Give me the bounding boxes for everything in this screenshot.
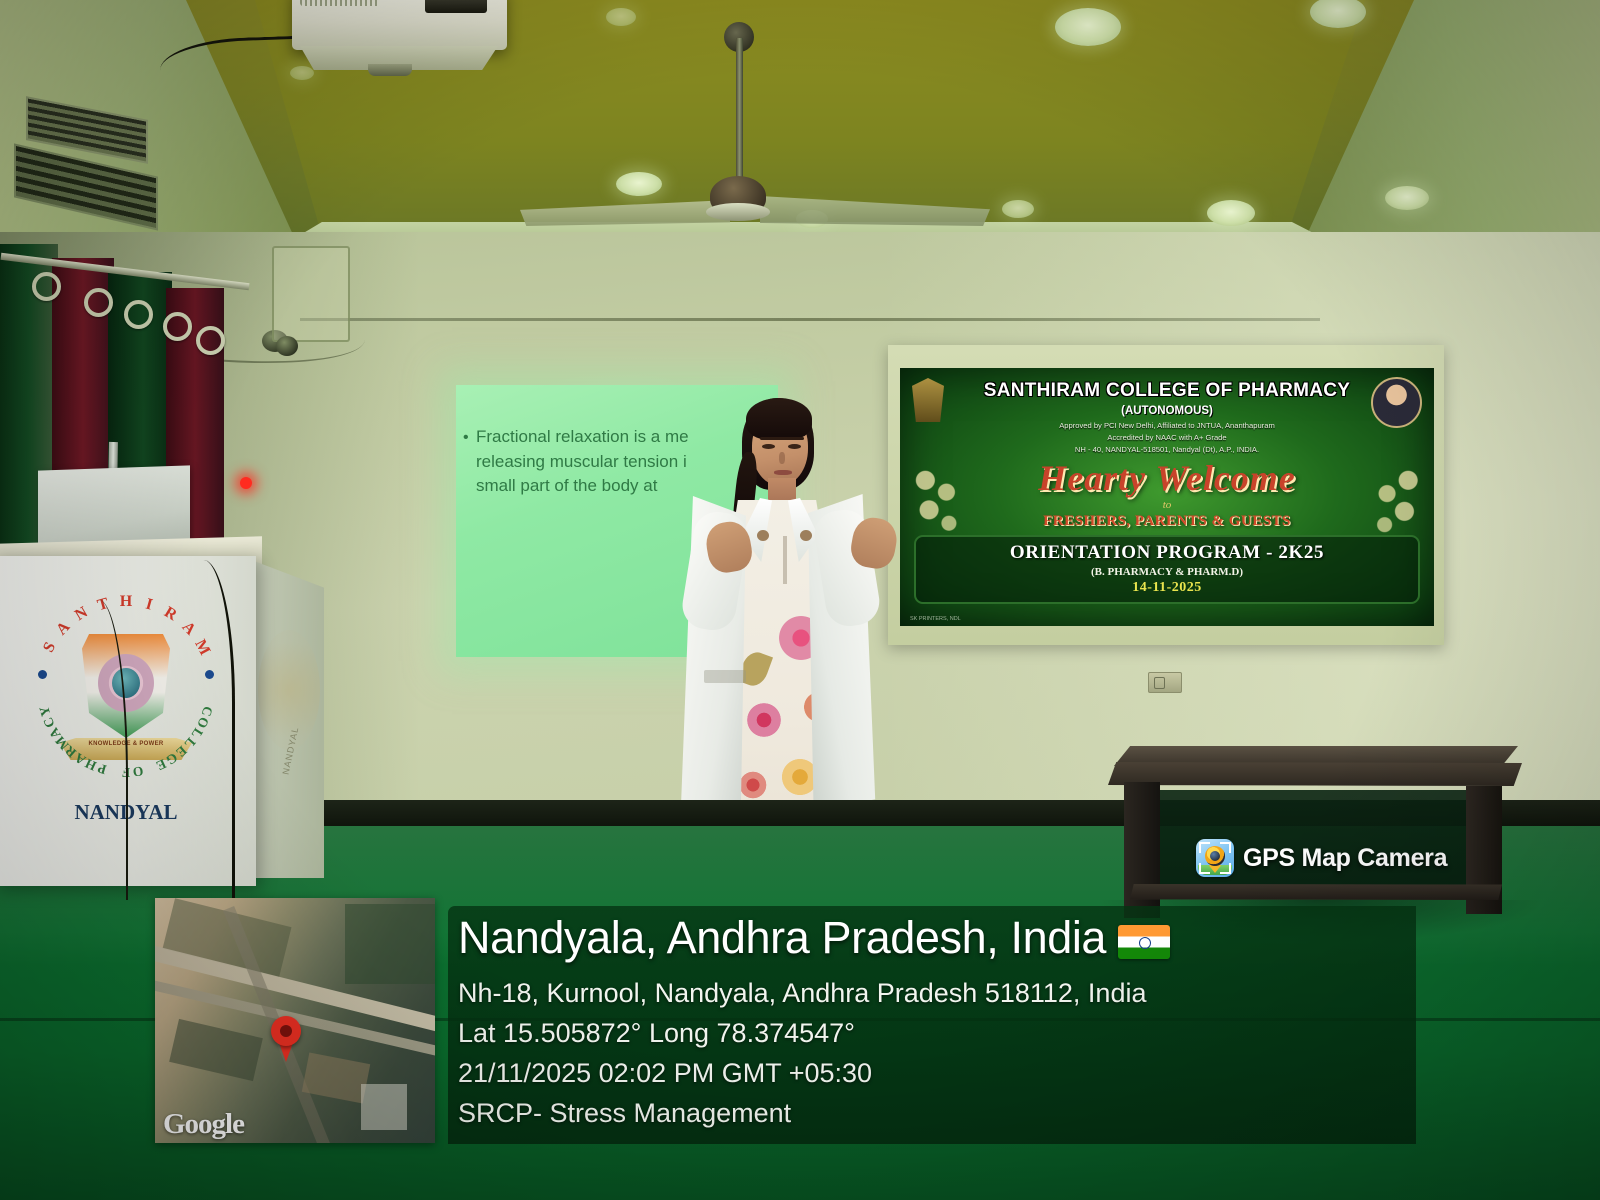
slide-line-3: small part of the body at: [476, 474, 776, 499]
geotag-coordinates: Lat 15.505872° Long 78.374547°: [458, 1018, 1418, 1049]
map-block: [302, 1052, 370, 1103]
curtain-grommet-icon: [196, 326, 225, 355]
banner-printer-credit: SK PRINTERS, NDL: [910, 616, 961, 622]
india-flag-icon: [1118, 925, 1170, 959]
wall-socket-icon: [1148, 672, 1182, 693]
banner-to: to: [900, 499, 1434, 511]
wall-knob-icon: [276, 336, 298, 356]
map-thumbnail[interactable]: Google: [155, 898, 435, 1143]
downlight-icon: [1002, 200, 1034, 218]
red-indicator-light: [240, 477, 252, 489]
geotag-note: SRCP- Stress Management: [458, 1098, 1418, 1129]
banner-audience: FRESHERS, PARENTS & GUESTS: [900, 513, 1434, 530]
gps-map-camera-watermark: GPS Map Camera: [1196, 838, 1447, 878]
banner-portrait-icon: [1371, 377, 1422, 428]
icon-bracket-tr: [1220, 842, 1231, 853]
map-block: [361, 1084, 407, 1130]
presenter-eye-right: [788, 444, 801, 449]
geotag-city-line: Nandyala, Andhra Pradesh, India: [458, 912, 1418, 964]
banner-flowers-right: [1366, 464, 1428, 538]
projector-lens-icon: [425, 0, 487, 13]
kurta-button: [800, 530, 812, 541]
map-vegetation: [345, 904, 435, 984]
kurta-floral-print: [742, 700, 786, 740]
gps-map-camera-icon: [1196, 839, 1234, 877]
banner-program-title: ORIENTATION PROGRAM - 2K25: [920, 542, 1414, 564]
wall-panel-box: [272, 246, 350, 342]
table-top: [1108, 762, 1522, 786]
geotag-city-text: Nandyala, Andhra Pradesh, India: [458, 912, 1106, 963]
seal-dot-left: [38, 670, 47, 679]
fan-ring: [706, 203, 770, 221]
google-watermark: Google: [163, 1108, 244, 1141]
projector-mount: [368, 64, 412, 76]
downlight-icon: [1385, 186, 1429, 210]
banner-autonomous: (AUTONOMOUS): [900, 405, 1434, 417]
curtain-grommet-icon: [84, 288, 113, 317]
slide-line-1: Fractional relaxation is a me: [476, 427, 689, 446]
banner-courses: (B. PHARMACY & PHARM.D): [920, 566, 1414, 578]
banner-flowers-left: [908, 464, 970, 538]
wall-seam: [300, 318, 1320, 321]
icon-bracket-tl: [1199, 842, 1210, 853]
kurta-button: [757, 530, 769, 541]
slide-bullet-icon: •: [463, 426, 469, 449]
presenter-nose: [779, 452, 785, 464]
presenter-eyebrows: [760, 437, 804, 440]
slide-body-text: • Fractional relaxation is a me releasin…: [476, 425, 776, 499]
curtain-grommet-icon: [163, 312, 192, 341]
banner-approval-3: NH - 40, NANDYAL-518501, Nandyal (Dt), A…: [900, 444, 1434, 455]
table-shelf: [1130, 884, 1502, 900]
banner-program-box: ORIENTATION PROGRAM - 2K25 (B. PHARMACY …: [914, 535, 1420, 604]
icon-bracket-bl: [1199, 863, 1210, 874]
banner-college-name: SANTHIRAM COLLEGE OF PHARMACY: [900, 380, 1434, 402]
presenter-eye-left: [762, 444, 775, 449]
map-block: [169, 1019, 263, 1081]
photo-canvas: • Fractional relaxation is a me releasin…: [0, 0, 1600, 1200]
banner-hearty-welcome: Hearty Welcome: [900, 457, 1434, 499]
projector-vent-icon: [300, 0, 380, 6]
presenter-mouth: [774, 470, 792, 475]
slide-line-2: releasing muscular tension i: [476, 450, 776, 475]
event-banner: SANTHIRAM COLLEGE OF PHARMACY (AUTONOMOU…: [900, 368, 1434, 626]
curtain-grommet-icon: [124, 300, 153, 329]
geotag-timestamp: 21/11/2025 02:02 PM GMT +05:30: [458, 1058, 1418, 1089]
location-pin-icon: [271, 1016, 301, 1046]
labcoat-pocket: [704, 670, 746, 683]
geotag-address: Nh-18, Kurnool, Nandyala, Andhra Pradesh…: [458, 978, 1418, 1009]
downlight-icon: [606, 8, 636, 26]
gps-app-name: GPS Map Camera: [1243, 844, 1447, 873]
downlight-icon: [1055, 8, 1121, 46]
banner-approval-2: Accredited by NAAC with A+ Grade: [900, 432, 1434, 443]
curtain-grommet-icon: [32, 272, 61, 301]
kurta-placket: [783, 536, 787, 584]
banner-approval-1: Approved by PCI New Delhi, Affiliated to…: [900, 420, 1434, 431]
downlight-icon: [616, 172, 662, 196]
presenter-hair-top: [746, 398, 812, 440]
fan-downrod: [736, 38, 743, 183]
podium-cable: [172, 560, 235, 900]
banner-date: 14-11-2025: [920, 580, 1414, 596]
banner-emblem-icon: [912, 378, 944, 422]
seal-char: O: [132, 762, 145, 779]
icon-bracket-br: [1220, 863, 1231, 874]
downlight-icon: [1207, 200, 1255, 226]
